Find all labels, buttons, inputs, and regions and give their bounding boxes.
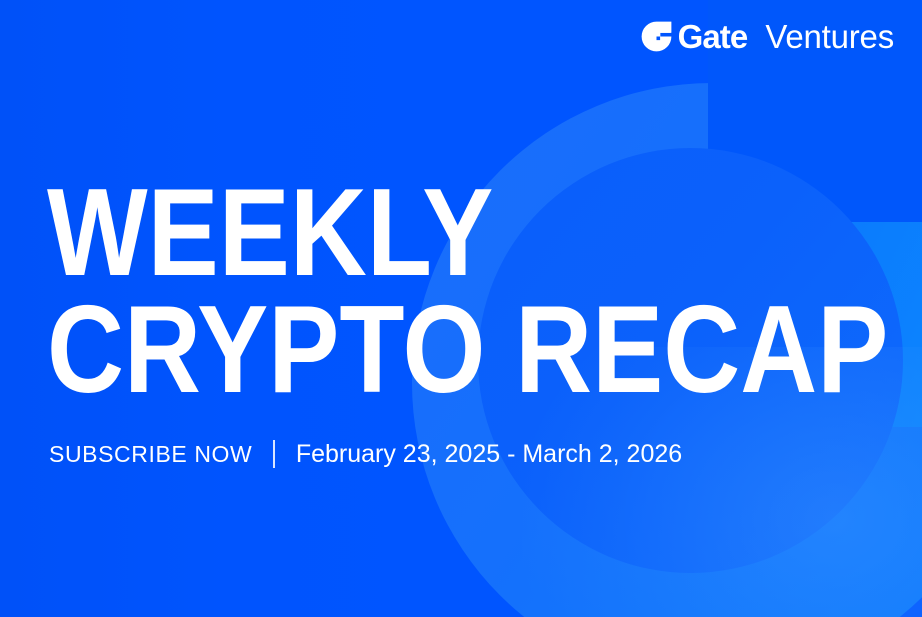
gate-circle-mark-icon — [641, 21, 672, 52]
brand-name-ventures: Ventures — [765, 20, 894, 53]
page-title: WEEKLY CRYPTO RECAP — [47, 180, 922, 403]
brand-lockup[interactable]: Gate Ventures — [641, 20, 894, 53]
headline-line-1: WEEKLY — [47, 180, 888, 287]
headline-line-2: CRYPTO RECAP — [47, 297, 888, 404]
subtitle-row: SUBSCRIBE NOW February 23, 2025 - March … — [49, 440, 682, 468]
brand-name-gate: Gate — [678, 20, 748, 53]
weekly-crypto-recap-banner: Gate Ventures WEEKLY CRYPTO RECAP SUBSCR… — [0, 0, 922, 617]
subtitle-divider — [273, 440, 275, 468]
date-range-label: February 23, 2025 - March 2, 2026 — [296, 442, 682, 467]
subscribe-now-button[interactable]: SUBSCRIBE NOW — [49, 443, 252, 466]
